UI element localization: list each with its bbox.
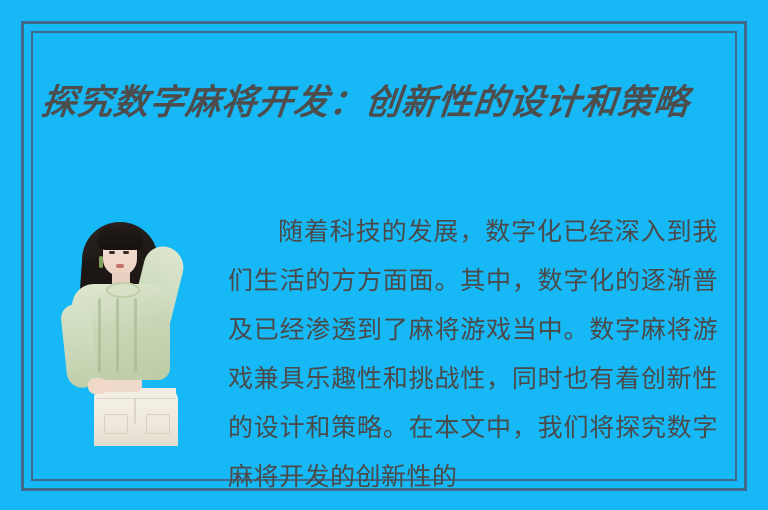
pocket-right [146,414,170,434]
article-body: 随着科技的发展，数字化已经深入到我们生活的方方面面。其中，数字化的逐渐普及已经渗… [228,207,718,501]
sweater-cable-3 [134,298,137,372]
eye-left [109,251,115,254]
hair-fringe [97,226,143,250]
trouser-fly [134,398,136,424]
article-card: 探究数字麻将开发：创新性的设计和策略 随着科技的发展，数字化已经深入到我们生活的… [0,0,768,510]
sweater-collar [106,282,140,298]
hand-on-hip [88,378,108,394]
eye-right [123,251,129,254]
lips [116,264,124,268]
sweater-cable-1 [98,298,101,372]
sweater-cable-2 [116,298,119,372]
page-title: 探究数字麻将开发：创新性的设计和策略 [39,79,739,127]
person-photo [58,218,186,446]
pocket-left [104,414,128,434]
earring [99,256,103,268]
